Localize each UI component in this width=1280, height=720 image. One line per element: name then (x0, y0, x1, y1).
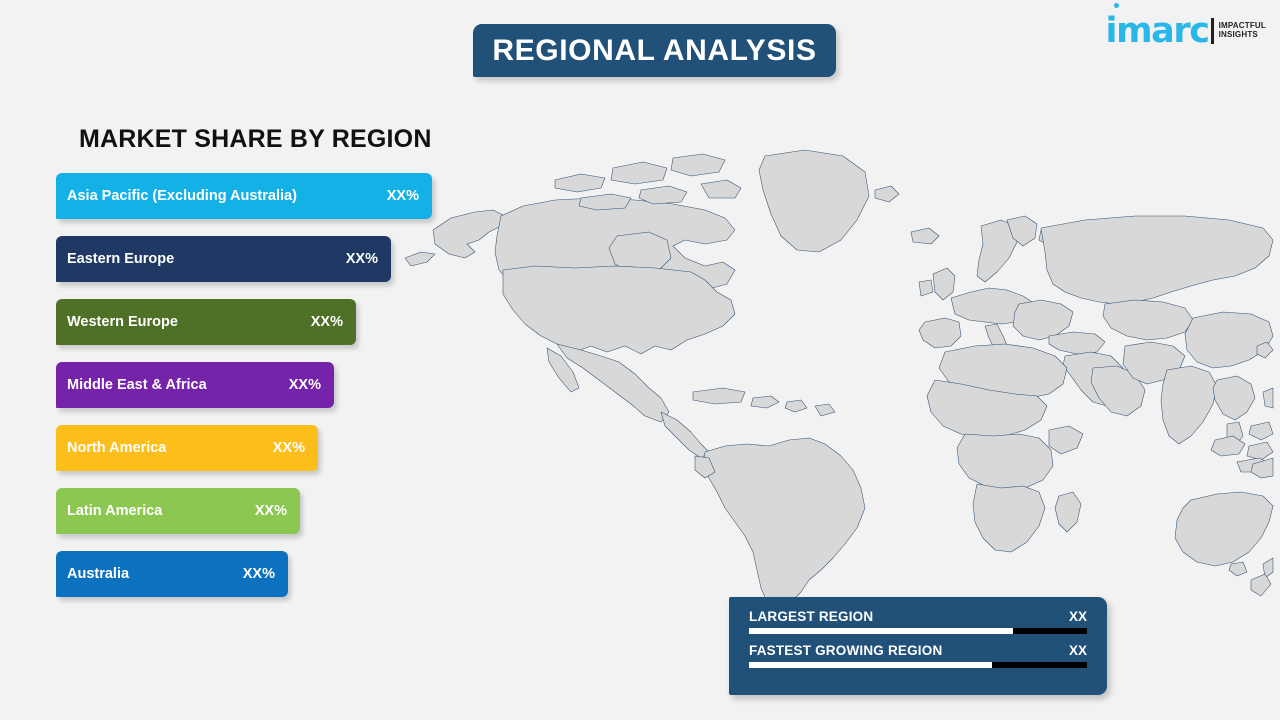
region-summary-progress-track (749, 662, 1087, 668)
map-landmasses (405, 150, 1273, 608)
region-summary-progress-track (749, 628, 1087, 634)
market-share-bar-label: Eastern Europe (67, 251, 174, 267)
region-summary-box: LARGEST REGIONXXFASTEST GROWING REGIONXX (729, 597, 1107, 695)
market-share-bar-value: XX% (273, 440, 305, 456)
section-heading: MARKET SHARE BY REGION (79, 125, 432, 154)
market-share-bar-label: Western Europe (67, 314, 178, 330)
imarc-wordmark: imarc (1105, 14, 1208, 49)
market-share-bar-label: Middle East & Africa (67, 377, 207, 393)
region-summary-label: FASTEST GROWING REGION (749, 643, 942, 658)
market-share-bar[interactable]: Eastern EuropeXX% (56, 236, 391, 282)
page-title: REGIONAL ANALYSIS (492, 34, 816, 68)
page-title-banner: REGIONAL ANALYSIS (473, 24, 836, 77)
region-summary-value: XX (1069, 643, 1087, 658)
market-share-bar[interactable]: Middle East & AfricaXX% (56, 362, 334, 408)
imarc-logo-dot (1114, 3, 1119, 8)
market-share-bar[interactable]: Latin AmericaXX% (56, 488, 300, 534)
market-share-bar-value: XX% (346, 251, 378, 267)
market-share-bar[interactable]: AustraliaXX% (56, 551, 288, 597)
market-share-bar[interactable]: Asia Pacific (Excluding Australia)XX% (56, 173, 432, 219)
region-summary-row: FASTEST GROWING REGIONXX (749, 643, 1087, 668)
market-share-bar[interactable]: North AmericaXX% (56, 425, 318, 471)
region-summary-value: XX (1069, 609, 1087, 624)
market-share-bar-list: Asia Pacific (Excluding Australia)XX%Eas… (56, 173, 432, 614)
region-summary-row-header: FASTEST GROWING REGIONXX (749, 643, 1087, 658)
region-summary-progress-fill (749, 628, 1013, 634)
logo-divider (1211, 18, 1214, 44)
region-summary-row-header: LARGEST REGIONXX (749, 609, 1087, 624)
market-share-bar-value: XX% (255, 503, 287, 519)
logo-tagline: IMPACTFUL INSIGHTS (1219, 22, 1266, 40)
world-map (405, 140, 1275, 610)
market-share-bar-label: Asia Pacific (Excluding Australia) (67, 188, 297, 204)
region-summary-progress-fill (749, 662, 992, 668)
region-summary-row: LARGEST REGIONXX (749, 609, 1087, 634)
imarc-logo: imarc IMPACTFUL INSIGHTS (1105, 10, 1266, 52)
market-share-bar[interactable]: Western EuropeXX% (56, 299, 356, 345)
market-share-bar-label: Latin America (67, 503, 162, 519)
logo-tagline-line2: INSIGHTS (1219, 31, 1266, 40)
market-share-bar-label: North America (67, 440, 166, 456)
market-share-bar-value: XX% (311, 314, 343, 330)
region-summary-label: LARGEST REGION (749, 609, 873, 624)
market-share-bar-value: XX% (243, 566, 275, 582)
market-share-bar-value: XX% (289, 377, 321, 393)
market-share-bar-label: Australia (67, 566, 129, 582)
